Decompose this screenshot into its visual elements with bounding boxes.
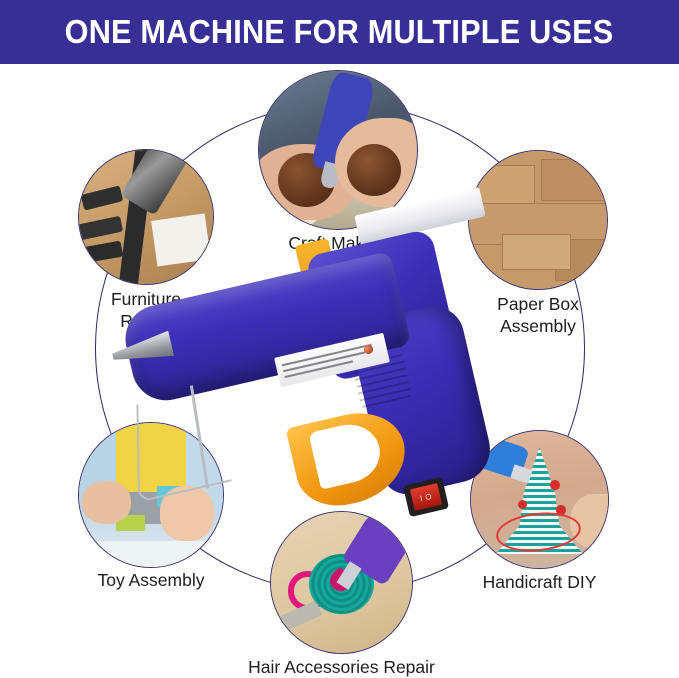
header-banner: ONE MACHINE FOR MULTIPLE USES — [0, 0, 679, 64]
caption-hair-accessories-repair: Hair Accessories Repair — [248, 657, 435, 678]
wire-stand — [136, 383, 231, 503]
power-switch-rocker[interactable]: I O — [410, 483, 442, 511]
product-hot-glue-gun: I O — [118, 219, 558, 549]
infographic-stage: Craft Making Furniture Repair Paper Box … — [0, 64, 679, 659]
scene-craft-making — [259, 71, 417, 229]
banner-title: ONE MACHINE FOR MULTIPLE USES — [65, 13, 614, 51]
caption-handicraft-diy: Handicraft DIY — [483, 572, 597, 593]
caption-toy-assembly: Toy Assembly — [98, 570, 205, 591]
